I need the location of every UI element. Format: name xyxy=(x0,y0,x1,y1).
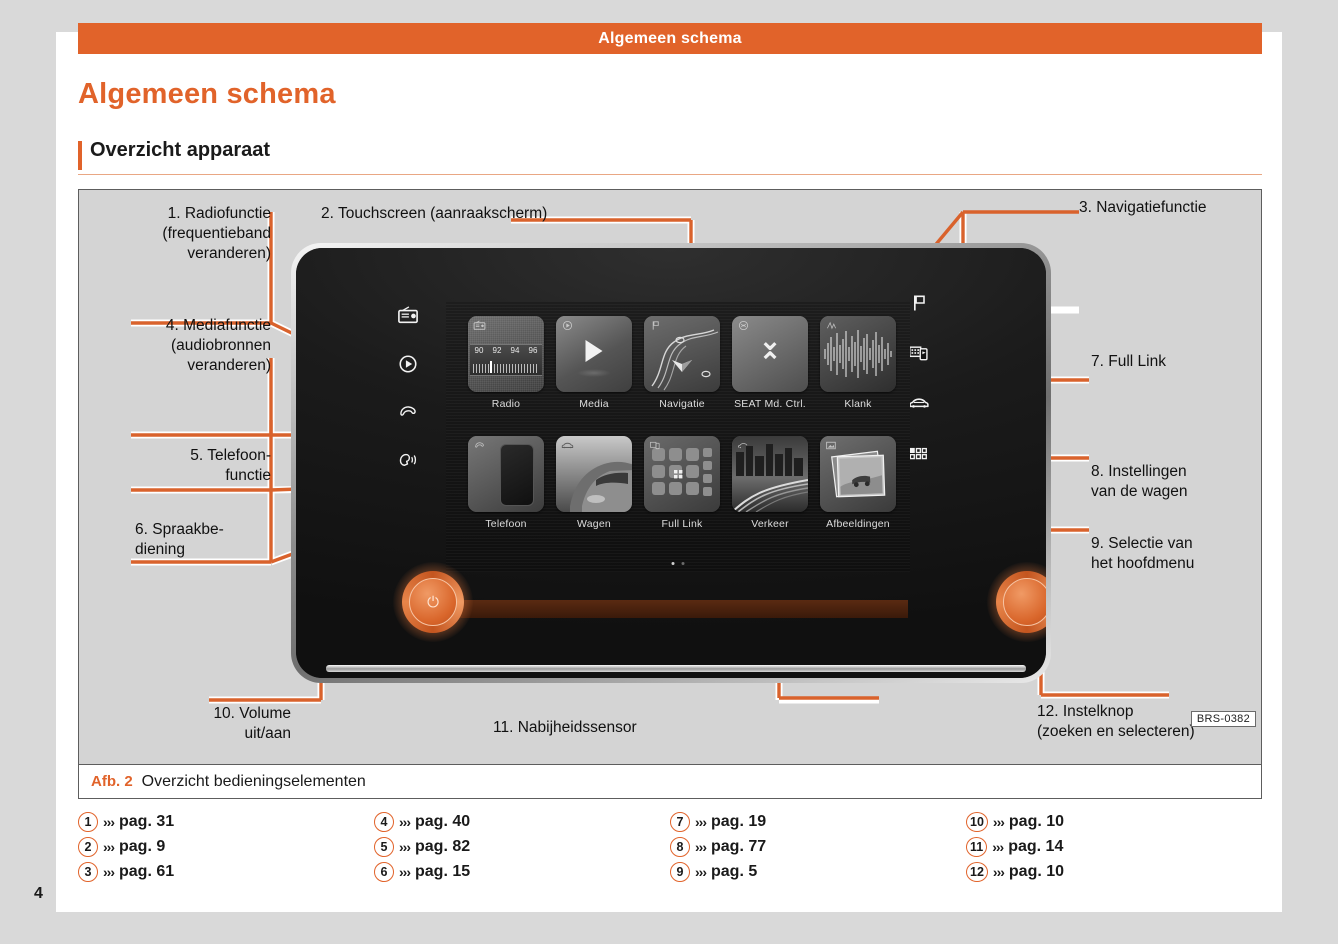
power-icon: ⏻ xyxy=(402,571,464,633)
callout-2-touchscreen: 2. Touchscreen (aanraakscherm) xyxy=(321,204,547,224)
reference-column-2: 4 ››› pag. 40 5 ››› pag. 82 6 ››› pag. 1… xyxy=(374,812,670,882)
device-inner-frame: 90 92 94 96 xyxy=(296,248,1046,678)
callout-6-spraakbediening: 6. Spraakbe- diening xyxy=(135,520,224,560)
freq-94: 94 xyxy=(511,346,520,355)
figure-number: Afb. 2 xyxy=(91,773,133,790)
callout-11-nabijheidssensor: 11. Nabijheidssensor xyxy=(493,718,637,738)
reference-column-4: 10 ››› pag. 10 11 ››› pag. 14 12 ››› pag… xyxy=(966,812,1262,882)
reference-number: 6 xyxy=(374,862,394,882)
reference-target: pag. 19 xyxy=(711,813,766,831)
tile-label: Wagen xyxy=(556,518,632,530)
play-triangle-icon xyxy=(586,340,603,362)
touchscreen-surface[interactable]: 90 92 94 96 xyxy=(446,302,910,572)
tile-media[interactable]: Media xyxy=(556,316,632,410)
tile-afbeeldingen[interactable]: Afbeeldingen xyxy=(820,436,896,530)
page-dot-active[interactable] xyxy=(672,562,675,565)
tile-radio-thumb[interactable]: 90 92 94 96 xyxy=(468,316,544,392)
bezel-icons-right xyxy=(908,293,930,463)
reference-target: pag. 82 xyxy=(415,838,470,856)
seat-chevrons-icon: ⌄⌃ xyxy=(759,331,782,374)
reference-target: pag. 14 xyxy=(1008,838,1063,856)
reference-column-1: 1 ››› pag. 31 2 ››› pag. 9 3 ››› pag. 61 xyxy=(78,812,374,882)
volume-knob[interactable]: ⏻ xyxy=(402,571,464,633)
reference-target: pag. 10 xyxy=(1009,813,1064,831)
figure-caption: Afb. 2 Overzicht bedieningselementen xyxy=(79,764,1261,798)
callout-5-telefoonfunctie: 5. Telefoon- functie xyxy=(89,446,271,486)
voice-control-icon[interactable] xyxy=(397,450,419,470)
figure-box: 90 92 94 96 xyxy=(78,189,1262,799)
chevrons-icon: ››› xyxy=(399,864,410,880)
reference-target: pag. 5 xyxy=(711,863,757,881)
full-link-icon xyxy=(649,440,662,451)
smartphone-graphic xyxy=(500,444,534,506)
tile-media-thumb[interactable] xyxy=(556,316,632,392)
radio-icon[interactable] xyxy=(397,306,419,326)
tile-radio[interactable]: 90 92 94 96 xyxy=(468,316,544,410)
reference-number: 5 xyxy=(374,837,394,857)
tile-verkeer[interactable]: Verkeer xyxy=(732,436,808,530)
reference-item[interactable]: 10 ››› pag. 10 xyxy=(966,812,1262,832)
chevrons-icon: ››› xyxy=(103,839,114,855)
pictures-icon xyxy=(825,440,838,451)
reference-item[interactable]: 7 ››› pag. 19 xyxy=(670,812,966,832)
figure-artwork: 90 92 94 96 xyxy=(79,190,1261,765)
chevrons-icon: ››› xyxy=(399,814,410,830)
tile-navigatie-thumb[interactable] xyxy=(644,316,720,392)
callout-4-mediafunctie: 4. Mediafunctie (audiobronnen veranderen… xyxy=(89,316,271,375)
reference-target: pag. 61 xyxy=(119,863,174,881)
reference-column-3: 7 ››› pag. 19 8 ››› pag. 77 9 ››› pag. 5 xyxy=(670,812,966,882)
tile-label: Klank xyxy=(820,398,896,410)
infotainment-device: 90 92 94 96 xyxy=(291,243,1051,683)
car-settings-icon xyxy=(561,440,574,451)
reference-number: 10 xyxy=(966,812,988,832)
bezel-icons-left xyxy=(397,306,419,470)
figure-code: BRS-0382 xyxy=(1191,711,1256,727)
callout-9-selectie-hoofdmenu: 9. Selectie van het hoofdmenu xyxy=(1091,534,1194,574)
chevrons-icon: ››› xyxy=(695,864,706,880)
reference-item[interactable]: 11 ››› pag. 14 xyxy=(966,837,1262,857)
main-menu-grid-icon[interactable] xyxy=(908,443,930,463)
tuning-knob[interactable] xyxy=(996,571,1046,633)
tile-klank[interactable]: Klank xyxy=(820,316,896,410)
tile-row-1: 90 92 94 96 xyxy=(468,316,896,410)
radio-icon xyxy=(473,320,486,331)
tile-label: SEAT Md. Ctrl. xyxy=(732,398,808,410)
section-heading-text: Overzicht apparaat xyxy=(90,139,270,162)
radio-dial: 90 92 94 96 xyxy=(470,344,542,376)
full-link-icon[interactable] xyxy=(908,343,930,363)
chevrons-icon: ››› xyxy=(993,864,1004,880)
tile-afbeeldingen-thumb[interactable] xyxy=(820,436,896,512)
reference-number: 9 xyxy=(670,862,690,882)
tile-telefoon-thumb[interactable] xyxy=(468,436,544,512)
reference-target: pag. 9 xyxy=(119,838,165,856)
phone-handset-icon xyxy=(473,440,486,451)
reference-number: 8 xyxy=(670,837,690,857)
reference-number: 4 xyxy=(374,812,394,832)
reference-item[interactable]: 4 ››› pag. 40 xyxy=(374,812,670,832)
radio-dial-frequencies: 90 92 94 96 xyxy=(470,346,542,355)
freq-90: 90 xyxy=(475,346,484,355)
reference-item[interactable]: 12 ››› pag. 10 xyxy=(966,862,1262,882)
chevrons-icon: ››› xyxy=(103,814,114,830)
media-play-icon xyxy=(561,320,574,331)
tile-seat-mode-control[interactable]: ⌄⌃ SEAT Md. Ctrl. xyxy=(732,316,808,410)
chapter-title: Algemeen schema xyxy=(78,78,336,111)
tile-wagen[interactable]: Wagen xyxy=(556,436,632,530)
car-settings-icon[interactable] xyxy=(908,393,930,413)
chevrons-icon: ››› xyxy=(399,839,410,855)
phone-handset-icon[interactable] xyxy=(397,402,419,422)
tuning-knob-face[interactable] xyxy=(1003,578,1046,626)
chevrons-icon: ››› xyxy=(695,839,706,855)
sound-wave-graphic xyxy=(823,327,893,381)
tile-klank-thumb[interactable] xyxy=(820,316,896,392)
reference-item[interactable]: 5 ››› pag. 82 xyxy=(374,837,670,857)
play-reflection xyxy=(577,369,611,377)
freq-92: 92 xyxy=(493,346,502,355)
tile-full-link[interactable]: Full Link xyxy=(644,436,720,530)
running-head: Algemeen schema xyxy=(78,23,1262,54)
radio-dial-ticks xyxy=(473,364,539,373)
tile-label: Afbeeldingen xyxy=(820,518,896,530)
chevrons-icon: ››› xyxy=(993,814,1004,830)
chevrons-icon: ››› xyxy=(103,864,114,880)
callout-7-full-link: 7. Full Link xyxy=(1091,352,1166,372)
reference-target: pag. 31 xyxy=(119,813,174,831)
sound-wave-icon xyxy=(825,320,838,331)
freq-96: 96 xyxy=(529,346,538,355)
page-dot-inactive[interactable] xyxy=(682,562,685,565)
callout-3-navigatiefunctie: 3. Navigatiefunctie xyxy=(1079,198,1207,218)
chevrons-icon: ››› xyxy=(992,839,1003,855)
tile-verkeer-thumb[interactable] xyxy=(732,436,808,512)
reference-target: pag. 10 xyxy=(1009,863,1064,881)
reference-target: pag. 77 xyxy=(711,838,766,856)
reference-list: 1 ››› pag. 31 2 ››› pag. 9 3 ››› pag. 61… xyxy=(78,812,1262,882)
reference-number: 11 xyxy=(966,837,987,857)
reference-number: 12 xyxy=(966,862,988,882)
reference-number: 3 xyxy=(78,862,98,882)
seat-mode-icon xyxy=(737,320,750,331)
tile-full-link-thumb[interactable] xyxy=(644,436,720,512)
reference-item[interactable]: 2 ››› pag. 9 xyxy=(78,837,374,857)
reference-item[interactable]: 1 ››› pag. 31 xyxy=(78,812,374,832)
navigation-flag-icon[interactable] xyxy=(908,293,930,313)
section-accent-bar xyxy=(78,141,82,170)
tile-row-2: Telefoon xyxy=(468,436,896,530)
tile-navigatie[interactable]: Navigatie xyxy=(644,316,720,410)
tile-wagen-thumb[interactable] xyxy=(556,436,632,512)
tile-seat-thumb[interactable]: ⌄⌃ xyxy=(732,316,808,392)
section-divider xyxy=(78,174,1262,175)
reference-target: pag. 15 xyxy=(415,863,470,881)
tile-telefoon[interactable]: Telefoon xyxy=(468,436,544,530)
tile-label: Radio xyxy=(468,398,544,410)
tile-label: Verkeer xyxy=(732,518,808,530)
device-chrome-strip xyxy=(326,665,1026,672)
reference-item[interactable]: 9 ››› pag. 5 xyxy=(670,862,966,882)
device-outer-frame: 90 92 94 96 xyxy=(291,243,1051,683)
figure-caption-text: Overzicht bedieningselementen xyxy=(142,773,366,791)
reference-item[interactable]: 6 ››› pag. 15 xyxy=(374,862,670,882)
reference-number: 2 xyxy=(78,837,98,857)
reference-item[interactable]: 8 ››› pag. 77 xyxy=(670,837,966,857)
page-number: 4 xyxy=(34,885,43,903)
reference-number: 1 xyxy=(78,812,98,832)
media-play-icon[interactable] xyxy=(397,354,419,374)
tile-label: Telefoon xyxy=(468,518,544,530)
tile-label: Full Link xyxy=(644,518,720,530)
tile-label: Navigatie xyxy=(644,398,720,410)
callout-12-instelknop: 12. Instelknop (zoeken en selecteren) xyxy=(1037,702,1195,742)
reference-target: pag. 40 xyxy=(415,813,470,831)
traffic-icon xyxy=(737,440,750,451)
touchscreen[interactable]: 90 92 94 96 xyxy=(446,302,910,572)
callout-1-radiofunctie: 1. Radiofunctie (frequentieband verander… xyxy=(89,204,271,263)
running-head-title: Algemeen schema xyxy=(598,30,742,48)
navigation-flag-icon xyxy=(649,320,662,331)
callout-10-volume: 10. Volume uit/aan xyxy=(113,704,291,744)
radio-dial-needle xyxy=(490,361,492,373)
reference-item[interactable]: 3 ››› pag. 61 xyxy=(78,862,374,882)
proximity-sensor-bar xyxy=(448,600,908,618)
reference-number: 7 xyxy=(670,812,690,832)
page-indicator-dots[interactable] xyxy=(672,562,685,565)
tile-label: Media xyxy=(556,398,632,410)
callout-8-instellingen-wagen: 8. Instellingen van de wagen xyxy=(1091,462,1188,502)
chevrons-icon: ››› xyxy=(695,814,706,830)
